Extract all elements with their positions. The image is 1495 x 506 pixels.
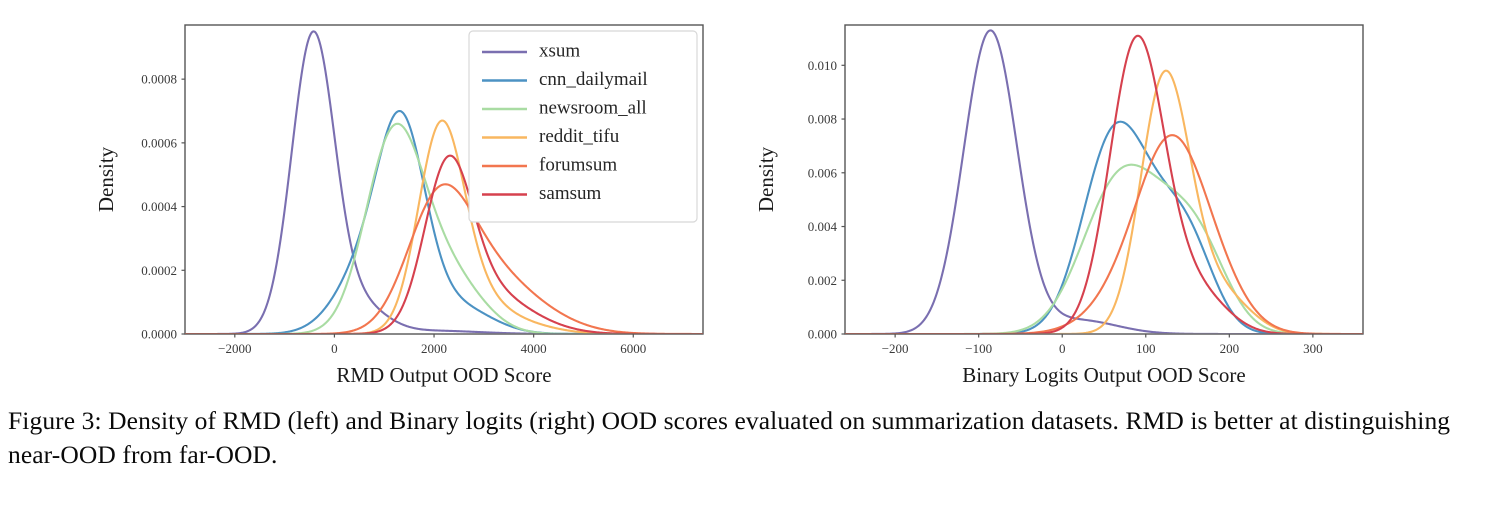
x-tick-label: 100 bbox=[1136, 341, 1156, 356]
y-tick-label: 0.010 bbox=[808, 58, 837, 73]
y-tick-label: 0.002 bbox=[808, 273, 837, 288]
x-axis: −200−1000100200300 bbox=[882, 334, 1323, 356]
y-axis-title: Density bbox=[754, 146, 778, 212]
y-tick-label: 0.004 bbox=[808, 219, 838, 234]
y-axis-title: Density bbox=[94, 146, 118, 212]
legend-label-reddit_tifu: reddit_tifu bbox=[539, 126, 620, 147]
y-tick-label: 0.008 bbox=[808, 112, 837, 127]
x-axis-title: Binary Logits Output OOD Score bbox=[962, 363, 1245, 387]
x-axis-title: RMD Output OOD Score bbox=[336, 363, 551, 387]
legend-label-newsroom_all: newsroom_all bbox=[539, 97, 647, 118]
plot-frame bbox=[845, 25, 1363, 334]
y-tick-label: 0.0006 bbox=[141, 135, 177, 150]
legend-label-xsum: xsum bbox=[539, 40, 580, 61]
y-tick-label: 0.0004 bbox=[141, 199, 177, 214]
binary-logits-density-plot: −200−10001002003000.0000.0020.0040.0060.… bbox=[665, 0, 1405, 390]
x-tick-label: −2000 bbox=[218, 341, 251, 356]
figure-caption: Figure 3: Density of RMD (left) and Bina… bbox=[8, 404, 1478, 471]
y-tick-label: 0.0002 bbox=[141, 263, 177, 278]
y-axis: 0.00000.00020.00040.00060.0008 bbox=[141, 72, 185, 342]
y-axis: 0.0000.0020.0040.0060.0080.010 bbox=[808, 58, 845, 342]
x-axis: −20000200040006000 bbox=[218, 334, 646, 356]
rmd-density-plot: −200002000400060000.00000.00020.00040.00… bbox=[5, 0, 745, 390]
x-tick-label: 6000 bbox=[620, 341, 646, 356]
panel-rmd: −200002000400060000.00000.00020.00040.00… bbox=[5, 0, 745, 390]
x-tick-label: −100 bbox=[965, 341, 992, 356]
figure-3: −200002000400060000.00000.00020.00040.00… bbox=[0, 0, 1495, 390]
legend-label-forumsum: forumsum bbox=[539, 154, 617, 175]
y-tick-label: 0.000 bbox=[808, 327, 837, 342]
legend-label-samsum: samsum bbox=[539, 183, 602, 204]
legend: xsumcnn_dailymailnewsroom_allreddit_tifu… bbox=[469, 31, 697, 222]
x-tick-label: 0 bbox=[331, 341, 338, 356]
y-tick-label: 0.006 bbox=[808, 165, 838, 180]
x-tick-label: −200 bbox=[882, 341, 909, 356]
legend-label-cnn_dailymail: cnn_dailymail bbox=[539, 69, 648, 90]
x-tick-label: 0 bbox=[1059, 341, 1066, 356]
x-tick-label: 2000 bbox=[421, 341, 447, 356]
panel-binary-logits: −200−10001002003000.0000.0020.0040.0060.… bbox=[665, 0, 1405, 390]
y-tick-label: 0.0008 bbox=[141, 72, 177, 87]
x-tick-label: 4000 bbox=[521, 341, 547, 356]
y-tick-label: 0.0000 bbox=[141, 327, 177, 342]
x-tick-label: 300 bbox=[1303, 341, 1323, 356]
x-tick-label: 200 bbox=[1220, 341, 1240, 356]
